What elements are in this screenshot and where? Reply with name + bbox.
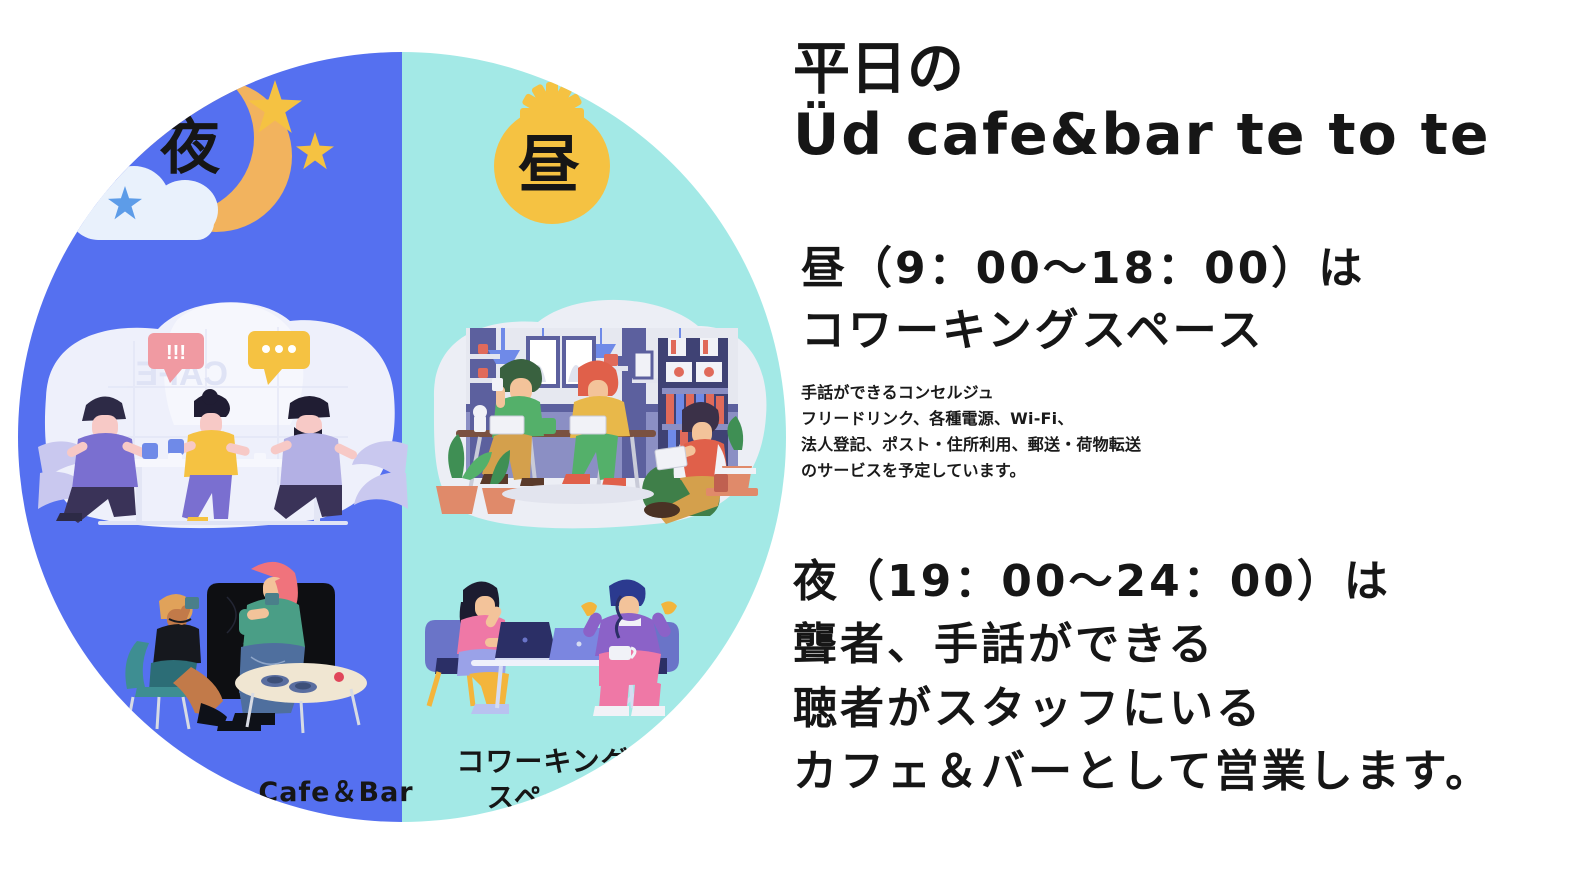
coworking-label-line2: スペース — [487, 781, 600, 814]
coworking-label-line1: コワーキング — [456, 745, 629, 778]
bar-lounge-illustration — [123, 547, 403, 737]
night-kanji-label: 夜 — [160, 118, 220, 178]
poster-root: 夜 昼 CAFE — [0, 0, 1580, 886]
coworking-desk-illustration — [423, 562, 683, 727]
daytime-hours-line: 昼（9：00〜18：00）は — [801, 238, 1571, 300]
day-badge: 昼 — [426, 62, 676, 262]
nighttime-section: 夜（19：00〜24：00）は 聾者、手話ができる 聴者がスタッフにいる カフェ… — [793, 550, 1573, 803]
svg-text:!!!: !!! — [166, 342, 186, 364]
headline-line-1: 平日の — [793, 36, 964, 102]
poster-headline: 平日の Üd cafe&bar te to te — [793, 36, 1553, 168]
coworking-interior-illustration — [418, 282, 778, 547]
daytime-detail-4: のサービスを予定しています。 — [801, 458, 1441, 484]
day-kanji-label: 昼 — [518, 134, 580, 196]
nighttime-line-4: カフェ＆バーとして営業します。 — [793, 740, 1573, 803]
daytime-section: 昼（9：00〜18：00）は コワーキングスペース — [801, 238, 1571, 363]
daytime-detail-1: 手話ができるコンセルジュ — [801, 380, 1441, 406]
daytime-detail-2: フリードリンク、各種電源、Wi-Fi、 — [801, 406, 1441, 432]
headline-line-2: Üd cafe&bar te to te — [793, 102, 1553, 168]
night-badge: 夜 — [52, 66, 382, 246]
star-icon-yellow-small — [296, 132, 334, 170]
nighttime-hours-line: 夜（19：00〜24：00）は — [793, 550, 1573, 613]
daytime-details: 手話ができるコンセルジュ フリードリンク、各種電源、Wi-Fi、 法人登記、ポス… — [801, 380, 1441, 484]
text-column: 平日の Üd cafe&bar te to te 昼（9：00〜18：00）は … — [793, 0, 1580, 886]
day-night-circle-graphic: 夜 昼 CAFE — [18, 52, 786, 822]
coworking-space-label: コワーキング スペース — [418, 744, 668, 816]
nighttime-line-3: 聴者がスタッフにいる — [793, 677, 1573, 740]
cafe-conversation-illustration: CAFE !!! — [38, 277, 408, 547]
daytime-detail-3: 法人登記、ポスト・住所利用、郵送・荷物転送 — [801, 432, 1441, 458]
nighttime-line-2: 聾者、手話ができる — [793, 613, 1573, 676]
daytime-service-line: コワーキングスペース — [801, 300, 1571, 362]
